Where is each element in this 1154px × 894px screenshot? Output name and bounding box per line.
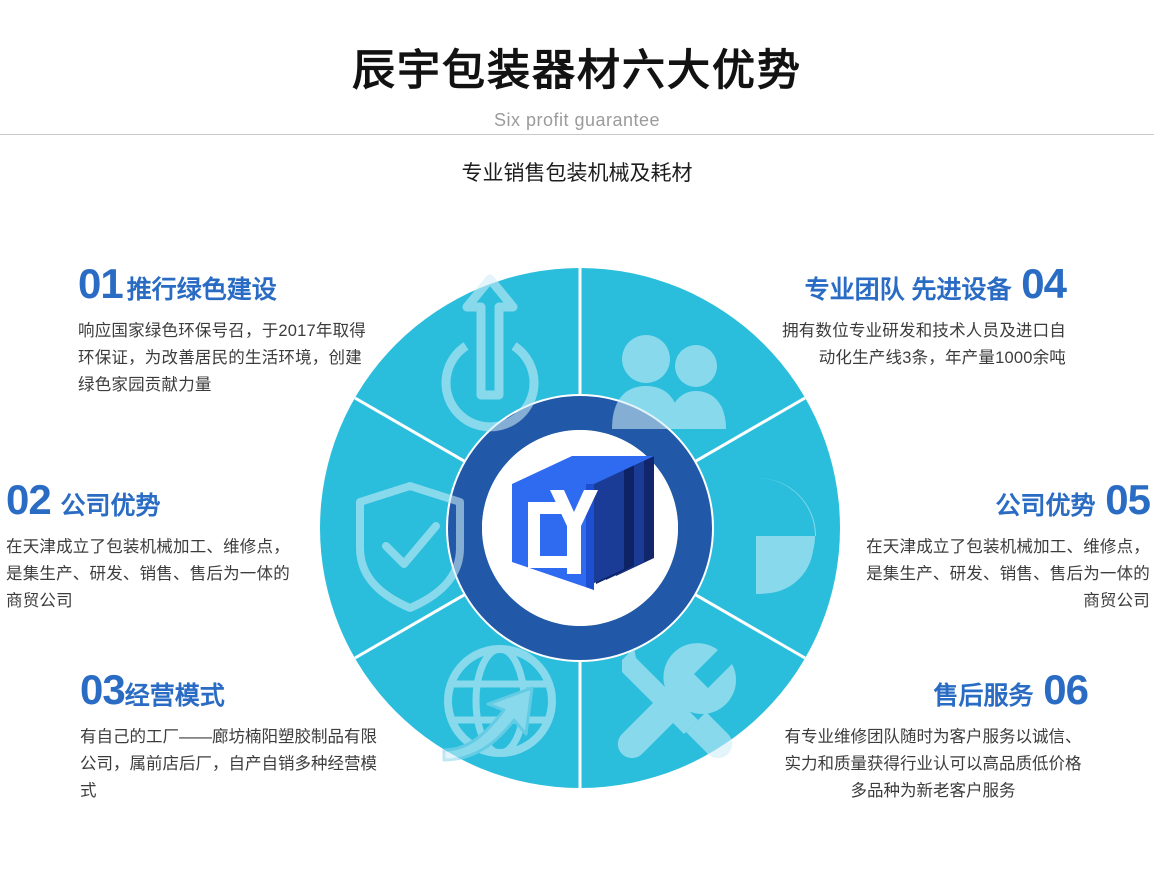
subtitle-english-text: Six profit guarantee bbox=[472, 110, 682, 130]
feature-heading-05: 公司优势 05 bbox=[850, 478, 1150, 522]
subtitle-chinese: 专业销售包装机械及耗材 bbox=[0, 157, 1154, 187]
feature-heading-03: 03经营模式 bbox=[80, 668, 392, 712]
page-title: 辰宇包装器材六大优势 bbox=[0, 36, 1154, 98]
infographic-root: 辰宇包装器材六大优势 Six profit guarantee 专业销售包装机械… bbox=[0, 0, 1154, 894]
feature-body-02: 在天津成立了包装机械加工、维修点，是集生产、研发、销售、售后为一体的商贸公司 bbox=[6, 534, 306, 614]
feature-title-04: 专业团队 先进设备 bbox=[805, 276, 1012, 304]
feature-heading-02: 02 公司优势 bbox=[6, 478, 306, 522]
feature-body-03: 有自己的工厂——廊坊楠阳塑胶制品有限公司，属前店后厂，自产自销多种经营模式 bbox=[80, 724, 392, 804]
feature-item-01: 01推行绿色建设 响应国家绿色环保号召，于2017年取得环保证，为改善居民的生活… bbox=[78, 262, 378, 398]
feature-item-04: 专业团队 先进设备 04 拥有数位专业研发和技术人员及进口自动化生产线3条，年产… bbox=[778, 262, 1066, 372]
divider-line-full bbox=[0, 134, 1154, 135]
feature-heading-06: 售后服务 06 bbox=[778, 668, 1088, 712]
feature-number-05: 05 bbox=[1105, 476, 1150, 523]
feature-title-01: 推行绿色建设 bbox=[127, 276, 277, 304]
feature-item-05: 公司优势 05 在天津成立了包装机械加工、维修点，是集生产、研发、销售、售后为一… bbox=[850, 478, 1150, 614]
feature-body-04: 拥有数位专业研发和技术人员及进口自动化生产线3条，年产量1000余吨 bbox=[778, 318, 1066, 371]
feature-item-02: 02 公司优势 在天津成立了包装机械加工、维修点，是集生产、研发、销售、售后为一… bbox=[6, 478, 306, 614]
subtitle-english: Six profit guarantee bbox=[0, 110, 1154, 131]
feature-title-05: 公司优势 bbox=[996, 492, 1096, 520]
feature-number-02: 02 bbox=[6, 476, 51, 523]
feature-body-05: 在天津成立了包装机械加工、维修点，是集生产、研发、销售、售后为一体的商贸公司 bbox=[850, 534, 1150, 614]
feature-number-04: 04 bbox=[1021, 260, 1066, 307]
six-segment-wheel bbox=[320, 268, 840, 788]
feature-number-06: 06 bbox=[1043, 666, 1088, 713]
feature-title-06: 售后服务 bbox=[934, 682, 1034, 710]
feature-item-06: 售后服务 06 有专业维修团队随时为客户服务以诚信、实力和质量获得行业认可以高品… bbox=[778, 668, 1088, 804]
feature-number-03: 03 bbox=[80, 666, 125, 713]
feature-body-06: 有专业维修团队随时为客户服务以诚信、实力和质量获得行业认可以高品质低价格多品种为… bbox=[778, 724, 1088, 804]
feature-title-03: 经营模式 bbox=[125, 682, 225, 710]
feature-title-02: 公司优势 bbox=[60, 492, 160, 520]
feature-heading-01: 01推行绿色建设 bbox=[78, 262, 378, 306]
feature-number-01: 01 bbox=[78, 260, 123, 307]
feature-body-01: 响应国家绿色环保号召，于2017年取得环保证，为改善居民的生活环境，创建绿色家园… bbox=[78, 318, 378, 398]
feature-item-03: 03经营模式 有自己的工厂——廊坊楠阳塑胶制品有限公司，属前店后厂，自产自销多种… bbox=[80, 668, 392, 804]
feature-heading-04: 专业团队 先进设备 04 bbox=[778, 262, 1066, 306]
